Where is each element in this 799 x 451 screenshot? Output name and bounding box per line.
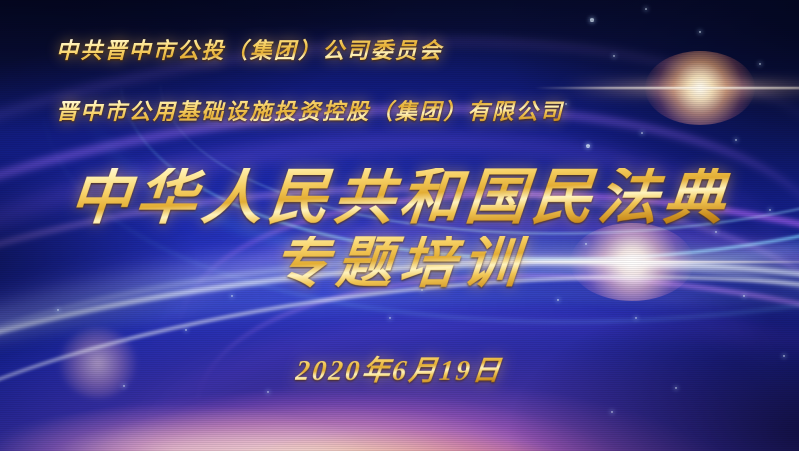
organization-block: 中共晋中市公投（集团）公司委员会 晋中市公用基础设施投资控股（集团）有限公司 bbox=[56, 38, 676, 125]
organization-line-1: 中共晋中市公投（集团）公司委员会 bbox=[56, 38, 676, 63]
organization-line-2: 晋中市公用基础设施投资控股（集团）有限公司 bbox=[56, 99, 676, 124]
slide-content: 中共晋中市公投（集团）公司委员会 晋中市公用基础设施投资控股（集团）有限公司 中… bbox=[0, 0, 799, 451]
subtitle: 专题培训 bbox=[0, 236, 799, 292]
date-block: 2020年6月19日 bbox=[0, 349, 799, 389]
main-title: 中华人民共和国民法典 bbox=[0, 168, 799, 230]
title-block: 中华人民共和国民法典 专题培训 bbox=[0, 168, 799, 292]
event-date: 2020年6月19日 bbox=[294, 349, 505, 389]
presentation-slide: 中共晋中市公投（集团）公司委员会 晋中市公用基础设施投资控股（集团）有限公司 中… bbox=[0, 0, 799, 451]
